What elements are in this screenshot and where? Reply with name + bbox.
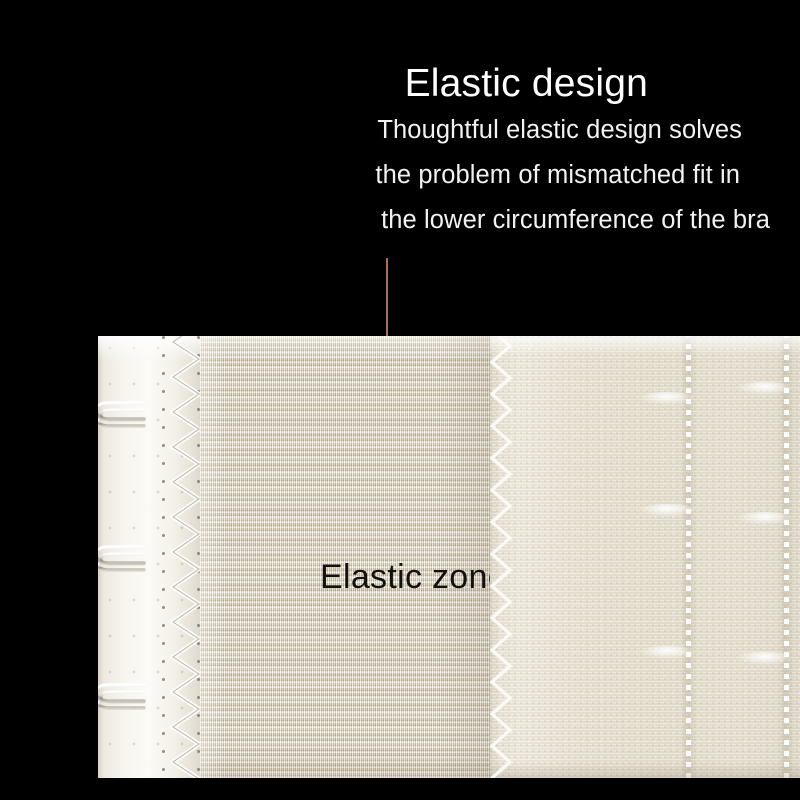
- elastic-mesh-zone: Elastic zone: [200, 336, 490, 778]
- zigzag-stitch-icon: [170, 336, 202, 778]
- panel-stitch-line-2: [784, 336, 789, 778]
- body-line-1: Thoughtful elastic design solves: [300, 108, 770, 153]
- quilt-pucker: [736, 512, 794, 525]
- quilt-pucker: [736, 652, 794, 665]
- bra-extender-product: Elastic zone: [98, 336, 800, 778]
- marketing-copy: Elastic design Thoughtful elastic design…: [300, 60, 770, 243]
- hook-3: [98, 676, 150, 720]
- quilt-pucker: [638, 646, 696, 659]
- hook-2: [98, 538, 150, 582]
- quilt-pucker: [638, 504, 696, 517]
- metal-hook-icon: [98, 676, 150, 720]
- elastic-shading: [200, 336, 490, 778]
- elastic-zone-label: Elastic zone: [320, 558, 507, 597]
- body-line-3: the lower circumference of the bra: [300, 198, 770, 243]
- hook-1: [98, 394, 150, 438]
- overlock-stitch-icon: [490, 336, 516, 778]
- elastic-panel-join-seam: [490, 336, 516, 778]
- zigzag-stitch-seam: [170, 336, 202, 778]
- metal-hook-icon: [98, 394, 150, 438]
- panel-top-highlight: [490, 336, 800, 356]
- body-line-2: the problem of mismatched fit in: [300, 153, 770, 198]
- quilt-pucker: [736, 382, 794, 395]
- metal-hook-icon: [98, 538, 150, 582]
- panel-bottom-shadow: [490, 762, 800, 778]
- product-photo-banner: Elastic design Thoughtful elastic design…: [0, 0, 800, 800]
- needle-hole-column-left: [162, 336, 165, 778]
- quilt-pucker: [638, 392, 696, 405]
- quilted-fabric-panel: [490, 336, 800, 778]
- headline: Elastic design: [300, 60, 770, 108]
